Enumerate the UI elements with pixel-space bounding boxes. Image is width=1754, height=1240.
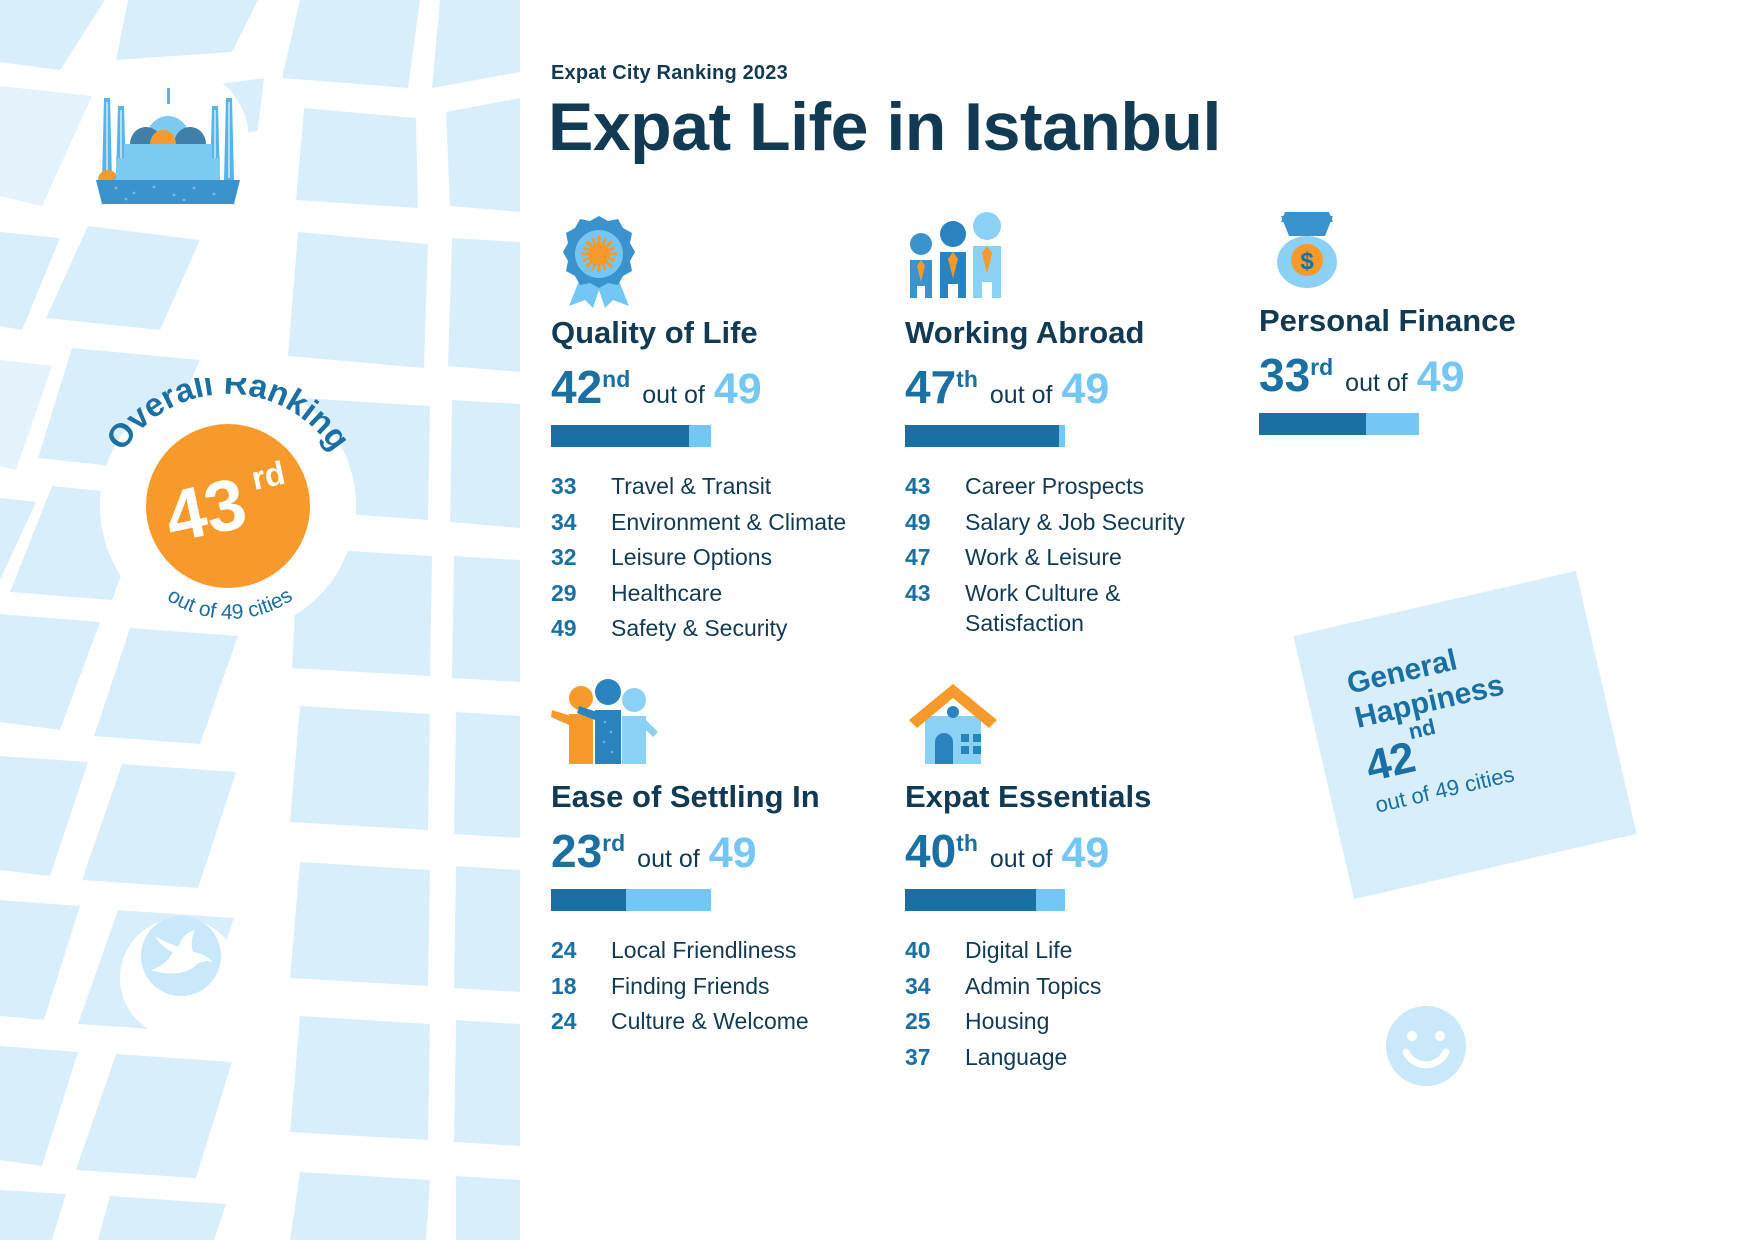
subindex-label: Salary & Job Security — [965, 507, 1185, 538]
page-title: Expat Life in Istanbul — [548, 92, 1221, 163]
rank-progress-bar — [551, 425, 711, 447]
rank-progress-fill — [905, 889, 1036, 911]
list-item: 25 Housing — [905, 1006, 1265, 1037]
subindex-value: 18 — [551, 971, 611, 1002]
list-item: 43 Career Prospects — [905, 471, 1265, 502]
subindex-value: 25 — [905, 1006, 965, 1037]
subindex-label: Culture & Welcome — [611, 1006, 809, 1037]
rank-suffix: th — [956, 830, 978, 857]
subindex-label: Admin Topics — [965, 971, 1101, 1002]
subindex-label: Environment & Climate — [611, 507, 846, 538]
category-title: Expat Essentials — [905, 780, 1265, 814]
subindex-label: Healthcare — [611, 578, 722, 609]
subindex-value: 49 — [905, 507, 965, 538]
list-item: 34 Admin Topics — [905, 971, 1265, 1002]
category-title: Personal Finance — [1259, 304, 1619, 338]
subindex-value: 47 — [905, 542, 965, 573]
rank-total: 49 — [1061, 832, 1109, 875]
category-title: Ease of Settling In — [551, 780, 911, 814]
subindex-value: 49 — [551, 613, 611, 644]
subindex-label: Housing — [965, 1006, 1049, 1037]
out-of-label: out of — [642, 381, 705, 410]
rank-suffix: rd — [602, 830, 625, 857]
subindex-list: 33 Travel & Transit 34 Environment & Cli… — [551, 471, 911, 644]
rank-total: 49 — [709, 832, 757, 875]
rank-number: 40 — [905, 828, 956, 874]
rank-number: 47 — [905, 364, 956, 410]
category-card-quality-of-life: Quality of Life 42 nd out of 49 33 Trave… — [551, 212, 911, 649]
seagull-bird-icon — [133, 908, 229, 1004]
subindex-value: 43 — [905, 471, 965, 502]
rank-suffix: rd — [1310, 354, 1333, 381]
subindex-value: 43 — [905, 578, 965, 609]
list-item: 37 Language — [905, 1042, 1265, 1073]
subindex-value: 34 — [905, 971, 965, 1002]
subindex-value: 37 — [905, 1042, 965, 1073]
subindex-label: Finding Friends — [611, 971, 770, 1002]
subindex-value: 24 — [551, 935, 611, 966]
rank-progress-bar — [1259, 413, 1419, 435]
list-item: 32 Leisure Options — [551, 542, 911, 573]
rank-progress-bar — [905, 889, 1065, 911]
rank-total: 49 — [714, 368, 762, 411]
rank-progress-fill — [1259, 413, 1366, 435]
subindex-list: 24 Local Friendliness 18 Finding Friends… — [551, 935, 911, 1037]
subindex-label: Career Prospects — [965, 471, 1144, 502]
rank-line: 42 nd out of 49 — [551, 364, 911, 411]
rank-progress-fill — [551, 425, 689, 447]
out-of-label: out of — [637, 845, 700, 874]
list-item: 43 Work Culture & Satisfaction — [905, 578, 1265, 639]
business-people-icon — [905, 212, 1265, 308]
list-item: 40 Digital Life — [905, 935, 1265, 966]
rank-total: 49 — [1417, 356, 1465, 399]
rank-suffix: nd — [602, 366, 630, 393]
rank-line: 47 th out of 49 — [905, 364, 1265, 411]
subindex-value: 33 — [551, 471, 611, 502]
subindex-label: Work Culture & Satisfaction — [965, 578, 1195, 639]
three-friends-icon — [551, 676, 911, 772]
category-card-working-abroad: Working Abroad 47 th out of 49 43 Career… — [905, 212, 1265, 644]
rank-number: 23 — [551, 828, 602, 874]
rank-number: 33 — [1259, 352, 1310, 398]
money-bag-icon: $ — [1259, 200, 1619, 296]
eyebrow-label: Expat City Ranking 2023 — [551, 62, 788, 85]
rank-line: 40 th out of 49 — [905, 828, 1265, 875]
list-item: 33 Travel & Transit — [551, 471, 911, 502]
list-item: 34 Environment & Climate — [551, 507, 911, 538]
svg-text:$: $ — [1300, 248, 1314, 275]
subindex-label: Travel & Transit — [611, 471, 771, 502]
general-happiness-panel: General Happiness 42nd out of 49 cities — [1293, 571, 1636, 899]
rank-total: 49 — [1061, 368, 1109, 411]
subindex-label: Local Friendliness — [611, 935, 796, 966]
subindex-value: 34 — [551, 507, 611, 538]
category-title: Quality of Life — [551, 316, 911, 350]
subindex-label: Work & Leisure — [965, 542, 1122, 573]
subindex-value: 29 — [551, 578, 611, 609]
rank-progress-fill — [551, 889, 626, 911]
out-of-label: out of — [990, 845, 1053, 874]
house-icon — [905, 676, 1265, 772]
out-of-label: out of — [990, 381, 1053, 410]
category-card-personal-finance: $ Personal Finance 33 rd out of 49 — [1259, 200, 1619, 459]
rank-number: 42 — [551, 364, 602, 410]
rank-line: 23 rd out of 49 — [551, 828, 911, 875]
list-item: 24 Culture & Welcome — [551, 1006, 911, 1037]
category-card-ease-of-settling-in: Ease of Settling In 23 rd out of 49 24 L… — [551, 676, 911, 1042]
subindex-label: Leisure Options — [611, 542, 772, 573]
rank-progress-bar — [905, 425, 1065, 447]
list-item: 49 Salary & Job Security — [905, 507, 1265, 538]
list-item: 47 Work & Leisure — [905, 542, 1265, 573]
category-card-expat-essentials: Expat Essentials 40 th out of 49 40 Digi… — [905, 676, 1265, 1077]
rank-suffix: th — [956, 366, 978, 393]
subindex-value: 32 — [551, 542, 611, 573]
list-item: 49 Safety & Security — [551, 613, 911, 644]
subindex-label: Digital Life — [965, 935, 1072, 966]
list-item: 29 Healthcare — [551, 578, 911, 609]
rank-line: 33 rd out of 49 — [1259, 352, 1619, 399]
list-item: 18 Finding Friends — [551, 971, 911, 1002]
subindex-list: 40 Digital Life 34 Admin Topics 25 Housi… — [905, 935, 1265, 1072]
category-title: Working Abroad — [905, 316, 1265, 350]
subindex-label: Safety & Security — [611, 613, 787, 644]
subindex-label: Language — [965, 1042, 1067, 1073]
smiley-face-icon — [1378, 998, 1474, 1094]
subindex-value: 40 — [905, 935, 965, 966]
out-of-label: out of — [1345, 369, 1408, 398]
rank-progress-fill — [905, 425, 1059, 447]
rank-progress-bar — [551, 889, 711, 911]
subindex-value: 24 — [551, 1006, 611, 1037]
subindex-list: 43 Career Prospects 49 Salary & Job Secu… — [905, 471, 1265, 639]
award-ribbon-icon — [551, 212, 911, 308]
list-item: 24 Local Friendliness — [551, 935, 911, 966]
general-happiness-suffix: nd — [1406, 714, 1438, 744]
